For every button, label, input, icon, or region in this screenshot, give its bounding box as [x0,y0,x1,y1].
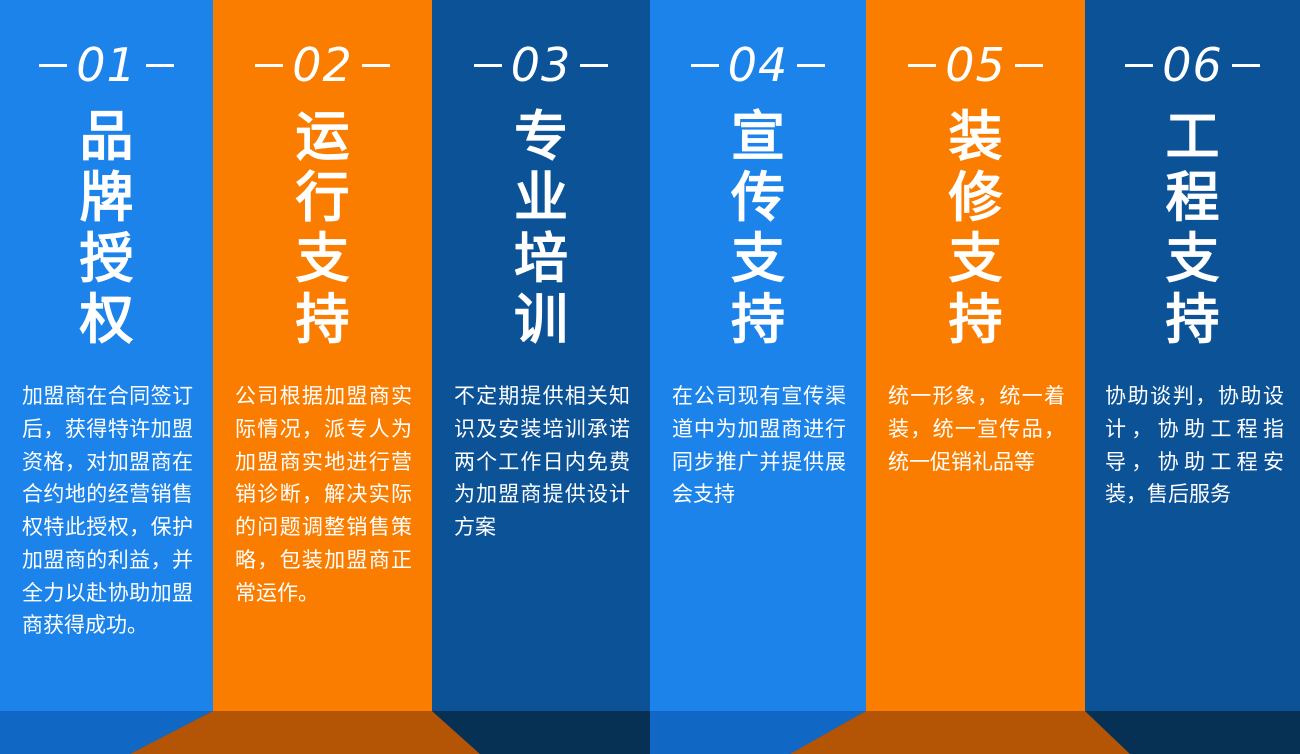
step-number: 05 [945,42,1006,88]
dash-right-icon [797,64,825,67]
title-char: 行 [296,167,350,228]
dash-right-icon [362,64,390,67]
title-char: 授 [80,228,134,289]
panel-title: 装 修 支 持 [866,106,1085,350]
ribbon-shadow-band [0,711,1300,754]
dash-left-icon [39,64,67,67]
panel-operation-support[interactable]: 02 运 行 支 持 公司根据加盟商实际情况，派专人为加盟商实地进行营销诊断，解… [213,0,432,711]
title-char: 持 [949,289,1003,350]
title-char: 运 [296,106,350,167]
panel-description: 加盟商在合同签订后，获得特许加盟资格，对加盟商在合约地的经营销售权特此授权，保护… [22,380,193,642]
dash-left-icon [1125,64,1153,67]
title-char: 修 [949,167,1003,228]
title-char: 业 [514,167,568,228]
dash-left-icon [255,64,283,67]
step-number: 06 [1162,42,1223,88]
panel-decoration-support[interactable]: 05 装 修 支 持 统一形象，统一着装，统一宣传品，统一促销礼品等 [866,0,1085,711]
number-badge: 06 [1085,42,1300,88]
title-char: 支 [1166,228,1220,289]
step-number: 04 [728,42,789,88]
title-char: 持 [1166,289,1220,350]
title-char: 工 [1166,106,1220,167]
dash-left-icon [474,64,502,67]
dash-left-icon [908,64,936,67]
number-badge: 04 [650,42,866,88]
panel-description: 公司根据加盟商实际情况，派专人为加盟商实地进行营销诊断，解决实际的问题调整销售策… [235,380,412,609]
title-char: 传 [731,167,785,228]
title-char: 支 [731,228,785,289]
title-char: 持 [731,289,785,350]
title-char: 宣 [731,106,785,167]
panel-promotion-support[interactable]: 04 宣 传 支 持 在公司现有宣传渠道中为加盟商进行同步推广并提供展会支持 [650,0,866,711]
title-char: 持 [296,289,350,350]
panel-title: 专 业 培 训 [432,106,650,350]
step-number: 03 [511,42,572,88]
dash-right-icon [146,64,174,67]
dash-right-icon [1015,64,1043,67]
panel-title: 品 牌 授 权 [0,106,213,350]
panel-title: 运 行 支 持 [213,106,432,350]
dash-right-icon [1232,64,1260,67]
panel-brand-authorization[interactable]: 01 品 牌 授 权 加盟商在合同签订后，获得特许加盟资格，对加盟商在合约地的经… [0,0,213,711]
dash-left-icon [691,64,719,67]
title-char: 牌 [80,167,134,228]
panel-professional-training[interactable]: 03 专 业 培 训 不定期提供相关知识及安装培训承诺两个工作日内免费为加盟商提… [432,0,650,711]
title-char: 程 [1166,167,1220,228]
panel-title: 宣 传 支 持 [650,106,866,350]
title-char: 训 [514,289,568,350]
panel-engineering-support[interactable]: 06 工 程 支 持 协助谈判，协助设计，协助工程指导，协助工程安装，售后服务 [1085,0,1300,711]
number-badge: 02 [213,42,432,88]
title-char: 培 [514,228,568,289]
title-char: 装 [949,106,1003,167]
infographic-canvas: 01 品 牌 授 权 加盟商在合同签订后，获得特许加盟资格，对加盟商在合约地的经… [0,0,1300,754]
panel-title: 工 程 支 持 [1085,106,1300,350]
title-char: 专 [514,106,568,167]
number-badge: 01 [0,42,213,88]
number-badge: 03 [432,42,650,88]
title-char: 支 [949,228,1003,289]
number-badge: 05 [866,42,1085,88]
panel-description: 不定期提供相关知识及安装培训承诺两个工作日内免费为加盟商提供设计方案 [454,380,630,544]
panel-description: 在公司现有宣传渠道中为加盟商进行同步推广并提供展会支持 [672,380,846,511]
title-char: 品 [80,106,134,167]
title-char: 权 [80,289,134,350]
panel-description: 协助谈判，协助设计，协助工程指导，协助工程安装，售后服务 [1105,380,1284,511]
step-number: 01 [76,42,137,88]
step-number: 02 [292,42,353,88]
title-char: 支 [296,228,350,289]
panel-description: 统一形象，统一着装，统一宣传品，统一促销礼品等 [888,380,1065,478]
dash-right-icon [580,64,608,67]
